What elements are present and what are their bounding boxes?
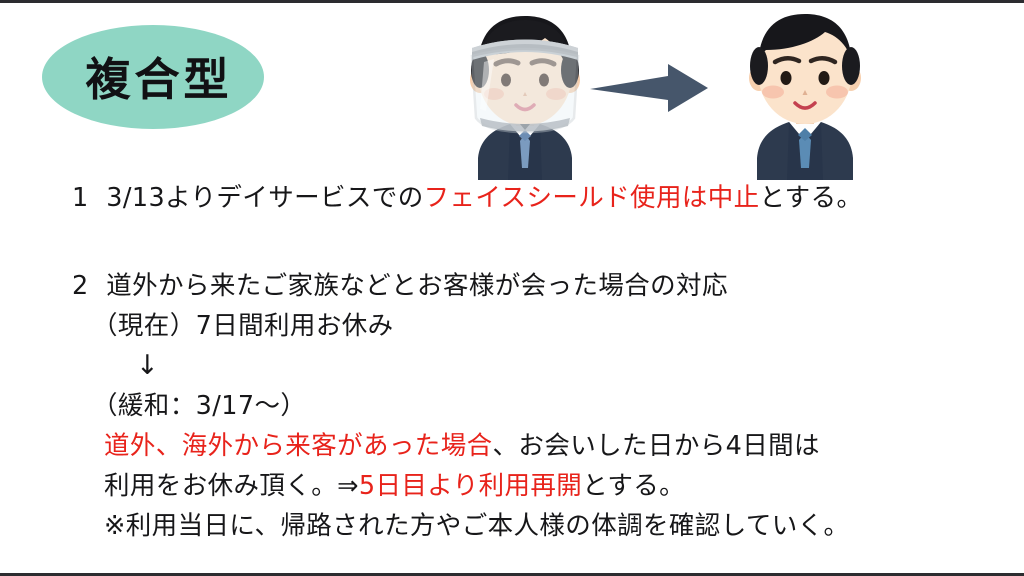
slide-canvas: 複合型 xyxy=(0,0,1024,576)
relaxed-line2-red: 5日目より利用再開 xyxy=(359,471,582,501)
item2-current-status: （現在）7日間利用お休み xyxy=(0,306,1024,346)
item2-relaxed-label: （緩和：3/17～） xyxy=(0,386,1024,426)
body-item1-line: 1 3/13よりデイサービスでのフェイスシールド使用は中止とする。 xyxy=(0,178,1024,218)
right-arrow-svg xyxy=(588,62,710,114)
man-wearing-face-shield-svg xyxy=(450,8,600,180)
body-spacer xyxy=(0,218,1024,266)
man-without-face-shield-svg xyxy=(735,8,875,180)
down-arrow-symbol: ↓ xyxy=(0,346,1024,386)
item1-segment-red: フェイスシールド使用は中止 xyxy=(424,183,760,213)
item1-segment-black-1: 3/13よりデイサービスでの xyxy=(106,183,423,213)
item2-note: ※利用当日に、帰路された方やご本人様の体調を確認していく。 xyxy=(0,506,1024,546)
item1-segment-black-2: とする。 xyxy=(760,183,863,213)
title-badge: 複合型 xyxy=(42,25,264,129)
relaxed-line1-red: 道外、海外から来客があった場合 xyxy=(104,431,493,461)
relaxed-line2-black-1: 利用をお休み頂く。⇒ xyxy=(104,471,359,501)
slide-top-border xyxy=(0,0,1024,3)
man-wearing-face-shield-illustration xyxy=(450,8,600,185)
item2-number: 2 xyxy=(72,271,89,301)
title-badge-label: 複合型 xyxy=(85,43,232,108)
man-without-face-shield-illustration xyxy=(735,8,875,185)
item1-number: 1 xyxy=(72,183,89,213)
relaxed-line2-black-2: とする。 xyxy=(582,471,685,501)
item2-relaxed-detail-line2: 利用をお休み頂く。⇒5日目より利用再開とする。 xyxy=(0,466,1024,506)
item2-relaxed-detail-line1: 道外、海外から来客があった場合、お会いした日から4日間は xyxy=(0,426,1024,466)
body-item2-heading-line: 2 道外から来たご家族などとお客様が会った場合の対応 xyxy=(0,266,1024,306)
item2-heading: 道外から来たご家族などとお客様が会った場合の対応 xyxy=(106,271,728,301)
relaxed-line1-black: 、お会いした日から4日間は xyxy=(493,431,820,461)
slide-body-text: 1 3/13よりデイサービスでのフェイスシールド使用は中止とする。 2 道外から… xyxy=(0,178,1024,546)
right-arrow-icon xyxy=(588,62,710,119)
